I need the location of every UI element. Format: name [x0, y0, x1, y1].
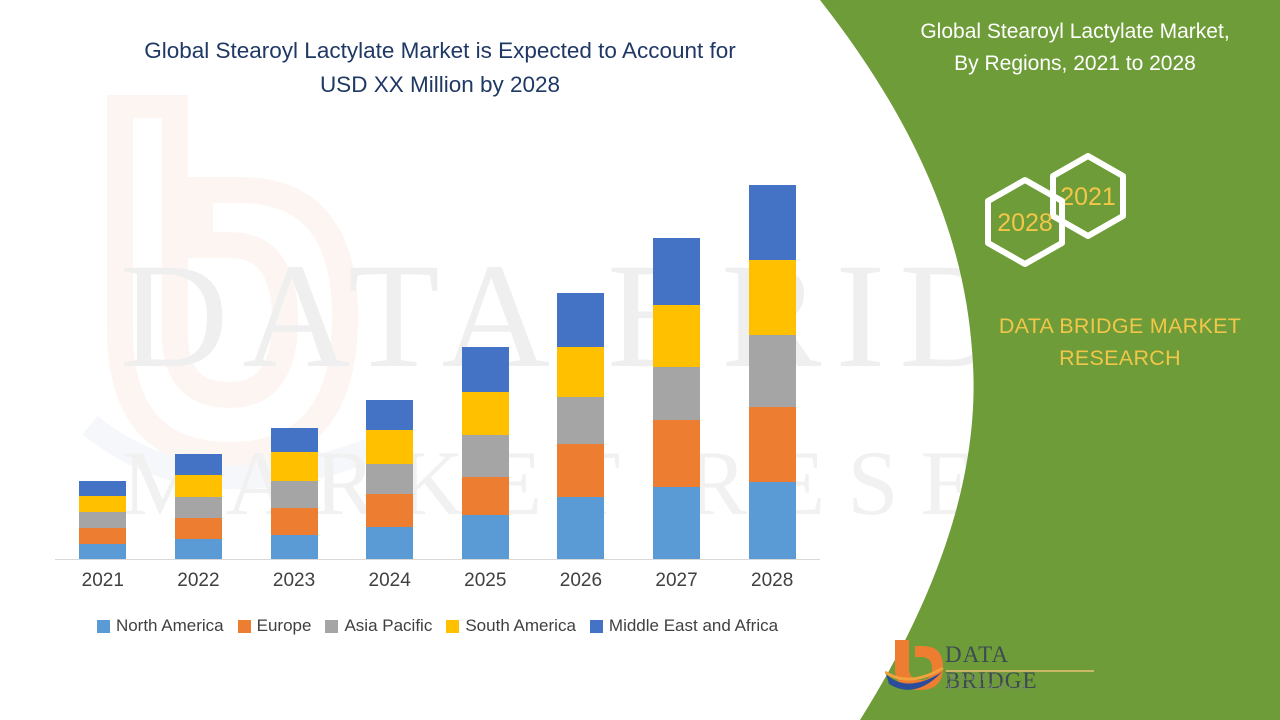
legend-label: South America: [465, 616, 576, 636]
x-axis-tick-label: 2025: [438, 570, 533, 592]
x-axis-tick-label: 2022: [151, 570, 246, 592]
legend-item[interactable]: North America: [97, 616, 224, 636]
x-axis-tick-labels: 20212022202320242025202620272028: [55, 570, 820, 592]
bar-segment: [749, 482, 796, 560]
hexagon-badges: 2021 2028: [975, 138, 1175, 278]
bar-segment: [557, 497, 604, 560]
bar-segment: [271, 452, 318, 481]
legend-item[interactable]: South America: [446, 616, 576, 636]
chart-plot-area: [55, 160, 820, 560]
hexagon-2021-label: 2021: [1060, 183, 1116, 211]
bar-segment: [175, 497, 222, 518]
stacked-bar: [271, 428, 318, 560]
bar-column: [629, 160, 724, 560]
bar-segment: [175, 454, 222, 475]
stacked-bar: [749, 185, 796, 560]
bar-group: [55, 160, 820, 560]
bar-segment: [653, 420, 700, 487]
brand-name-line-1: DATA BRIDGE MARKET: [960, 310, 1280, 342]
stacked-bar: [79, 481, 126, 560]
bar-segment: [557, 347, 604, 397]
stacked-bar: [557, 293, 604, 560]
x-axis-line: [55, 559, 820, 560]
legend-swatch-icon: [446, 620, 459, 633]
bar-segment: [557, 444, 604, 497]
bar-segment: [366, 527, 413, 560]
hexagon-2028-label: 2028: [997, 209, 1053, 237]
x-axis-tick-label: 2028: [725, 570, 820, 592]
bar-column: [151, 160, 246, 560]
chart-title-line-1: Global Stearoyl Lactylate Market is Expe…: [60, 34, 820, 68]
bar-segment: [366, 400, 413, 430]
stacked-bar: [653, 238, 700, 560]
bar-column: [725, 160, 820, 560]
x-axis-tick-label: 2021: [55, 570, 150, 592]
bar-segment: [749, 407, 796, 482]
legend-swatch-icon: [325, 620, 338, 633]
bar-segment: [462, 477, 509, 515]
legend-swatch-icon: [590, 620, 603, 633]
stacked-bar: [175, 454, 222, 560]
panel-title: Global Stearoyl Lactylate Market, By Reg…: [880, 16, 1270, 80]
brand-name-line-2: RESEARCH: [960, 342, 1280, 374]
bar-segment: [175, 518, 222, 539]
hexagon-badges-svg: 2021 2028: [975, 138, 1175, 278]
legend-swatch-icon: [238, 620, 251, 633]
bar-segment: [653, 487, 700, 560]
bar-segment: [79, 528, 126, 544]
logo-mark-icon: [885, 638, 945, 696]
bar-segment: [79, 496, 126, 512]
chart-title: Global Stearoyl Lactylate Market is Expe…: [60, 34, 820, 102]
bar-segment: [175, 539, 222, 560]
bar-segment: [366, 430, 413, 464]
legend-label: Middle East and Africa: [609, 616, 778, 636]
legend-item[interactable]: Middle East and Africa: [590, 616, 778, 636]
panel-title-line-2: By Regions, 2021 to 2028: [880, 48, 1270, 80]
infographic-root: DATA BRIDGE MARKET RESEARCH Global Stear…: [0, 0, 1280, 720]
logo-subtitle: MARKET RESEARCH: [947, 673, 1100, 693]
x-axis-tick-label: 2023: [247, 570, 342, 592]
bar-column: [533, 160, 628, 560]
legend-label: Europe: [257, 616, 312, 636]
x-axis-tick-label: 2026: [533, 570, 628, 592]
stacked-bar: [366, 400, 413, 560]
bar-segment: [653, 238, 700, 305]
bar-segment: [462, 435, 509, 477]
bar-segment: [749, 335, 796, 407]
chart-title-line-2: USD XX Million by 2028: [60, 68, 820, 102]
stacked-bar: [462, 347, 509, 560]
bar-segment: [462, 515, 509, 560]
bar-segment: [557, 293, 604, 347]
bar-segment: [79, 481, 126, 496]
bar-segment: [462, 392, 509, 435]
bar-segment: [79, 544, 126, 560]
bar-segment: [366, 494, 413, 527]
legend-item[interactable]: Asia Pacific: [325, 616, 432, 636]
bar-segment: [271, 508, 318, 535]
bar-segment: [462, 347, 509, 392]
bar-segment: [557, 397, 604, 444]
panel-title-line-1: Global Stearoyl Lactylate Market,: [880, 16, 1270, 48]
bar-segment: [366, 464, 413, 494]
bar-segment: [749, 185, 796, 260]
company-logo: DATA BRIDGE MARKET RESEARCH: [885, 636, 1100, 698]
legend-label: Asia Pacific: [344, 616, 432, 636]
legend-swatch-icon: [97, 620, 110, 633]
x-axis-tick-label: 2024: [342, 570, 437, 592]
bar-segment: [175, 475, 222, 497]
bar-segment: [271, 535, 318, 560]
bar-segment: [271, 481, 318, 508]
bar-column: [247, 160, 342, 560]
bar-column: [342, 160, 437, 560]
bar-segment: [653, 305, 700, 367]
legend-label: North America: [116, 616, 224, 636]
legend-item[interactable]: Europe: [238, 616, 312, 636]
bar-segment: [749, 260, 796, 335]
chart-legend: North AmericaEuropeAsia PacificSouth Ame…: [55, 616, 820, 636]
bar-segment: [79, 512, 126, 528]
bar-column: [438, 160, 533, 560]
bar-segment: [653, 367, 700, 420]
x-axis-tick-label: 2027: [629, 570, 724, 592]
bar-column: [55, 160, 150, 560]
bar-segment: [271, 428, 318, 452]
logo-divider: [946, 670, 1094, 672]
brand-name: DATA BRIDGE MARKET RESEARCH: [960, 310, 1280, 374]
